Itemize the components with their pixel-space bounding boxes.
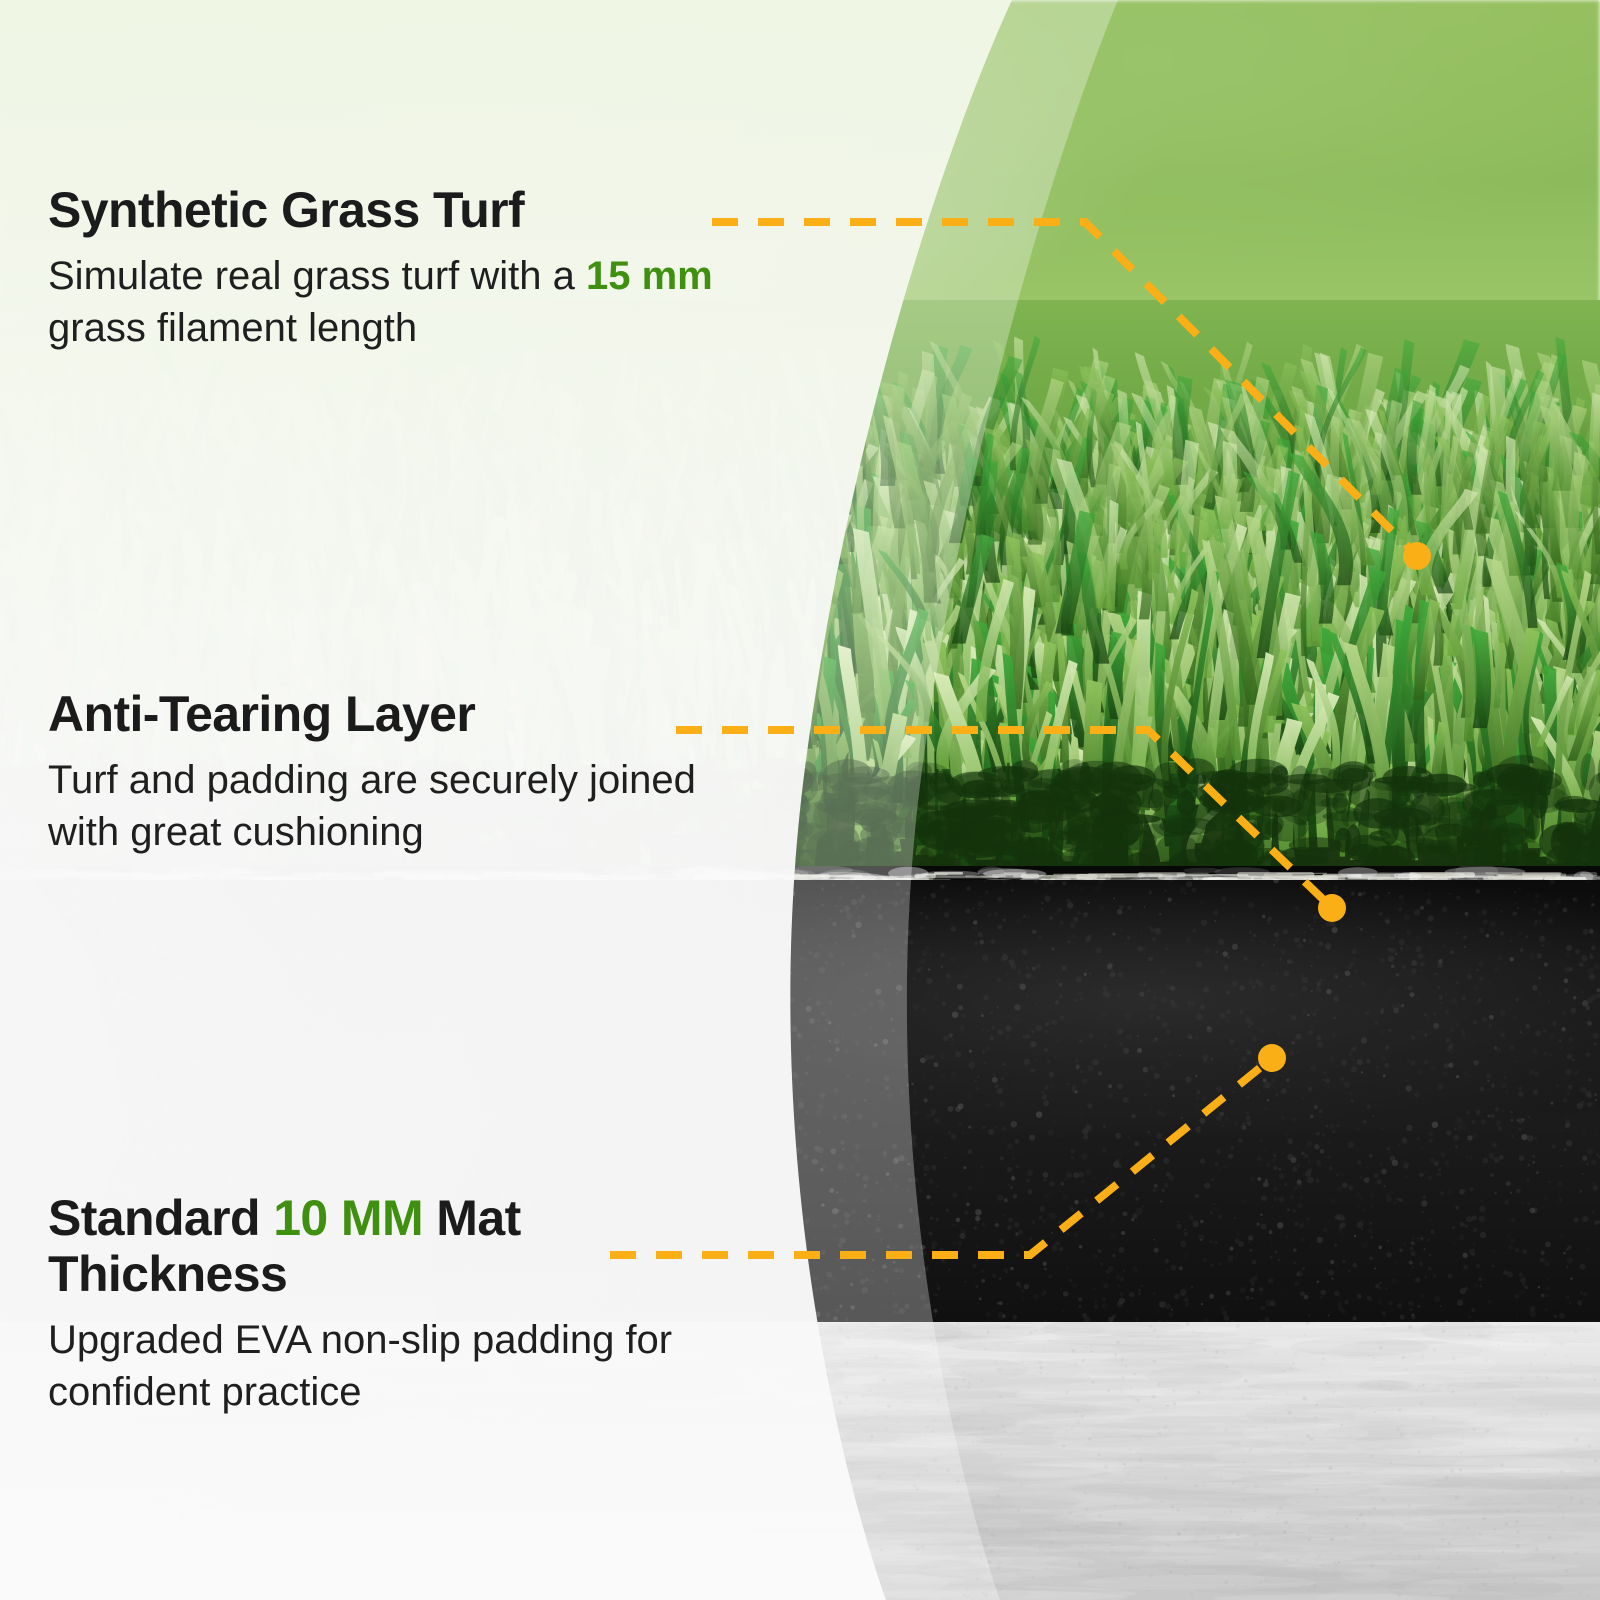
infographic-canvas: Synthetic Grass Turf Simulate real grass… <box>0 0 1600 1600</box>
feature-body-1-accent: 15 mm <box>586 254 713 298</box>
feature-heading-1: Synthetic Grass Turf <box>48 182 728 238</box>
feature-heading-3: Standard 10 MM Mat Thickness <box>48 1190 608 1302</box>
feature-body-1: Simulate real grass turf with a 15 mm gr… <box>48 250 728 354</box>
feature-body-3: Upgraded EVA non-slip padding for confid… <box>48 1314 728 1418</box>
feature-block-mat-thickness: Standard 10 MM Mat Thickness Upgraded EV… <box>48 1190 728 1418</box>
feature-heading-3-prefix: Standard <box>48 1190 273 1246</box>
feature-heading-2: Anti-Tearing Layer <box>48 686 728 742</box>
feature-heading-3-accent: 10 MM <box>273 1190 423 1246</box>
feature-body-1-prefix: Simulate real grass turf with a <box>48 254 586 298</box>
feature-body-1-suffix: grass filament length <box>48 306 417 350</box>
feature-block-anti-tearing-layer: Anti-Tearing Layer Turf and padding are … <box>48 686 728 858</box>
feature-body-2: Turf and padding are securely joined wit… <box>48 754 728 858</box>
feature-block-synthetic-grass-turf: Synthetic Grass Turf Simulate real grass… <box>48 182 728 354</box>
